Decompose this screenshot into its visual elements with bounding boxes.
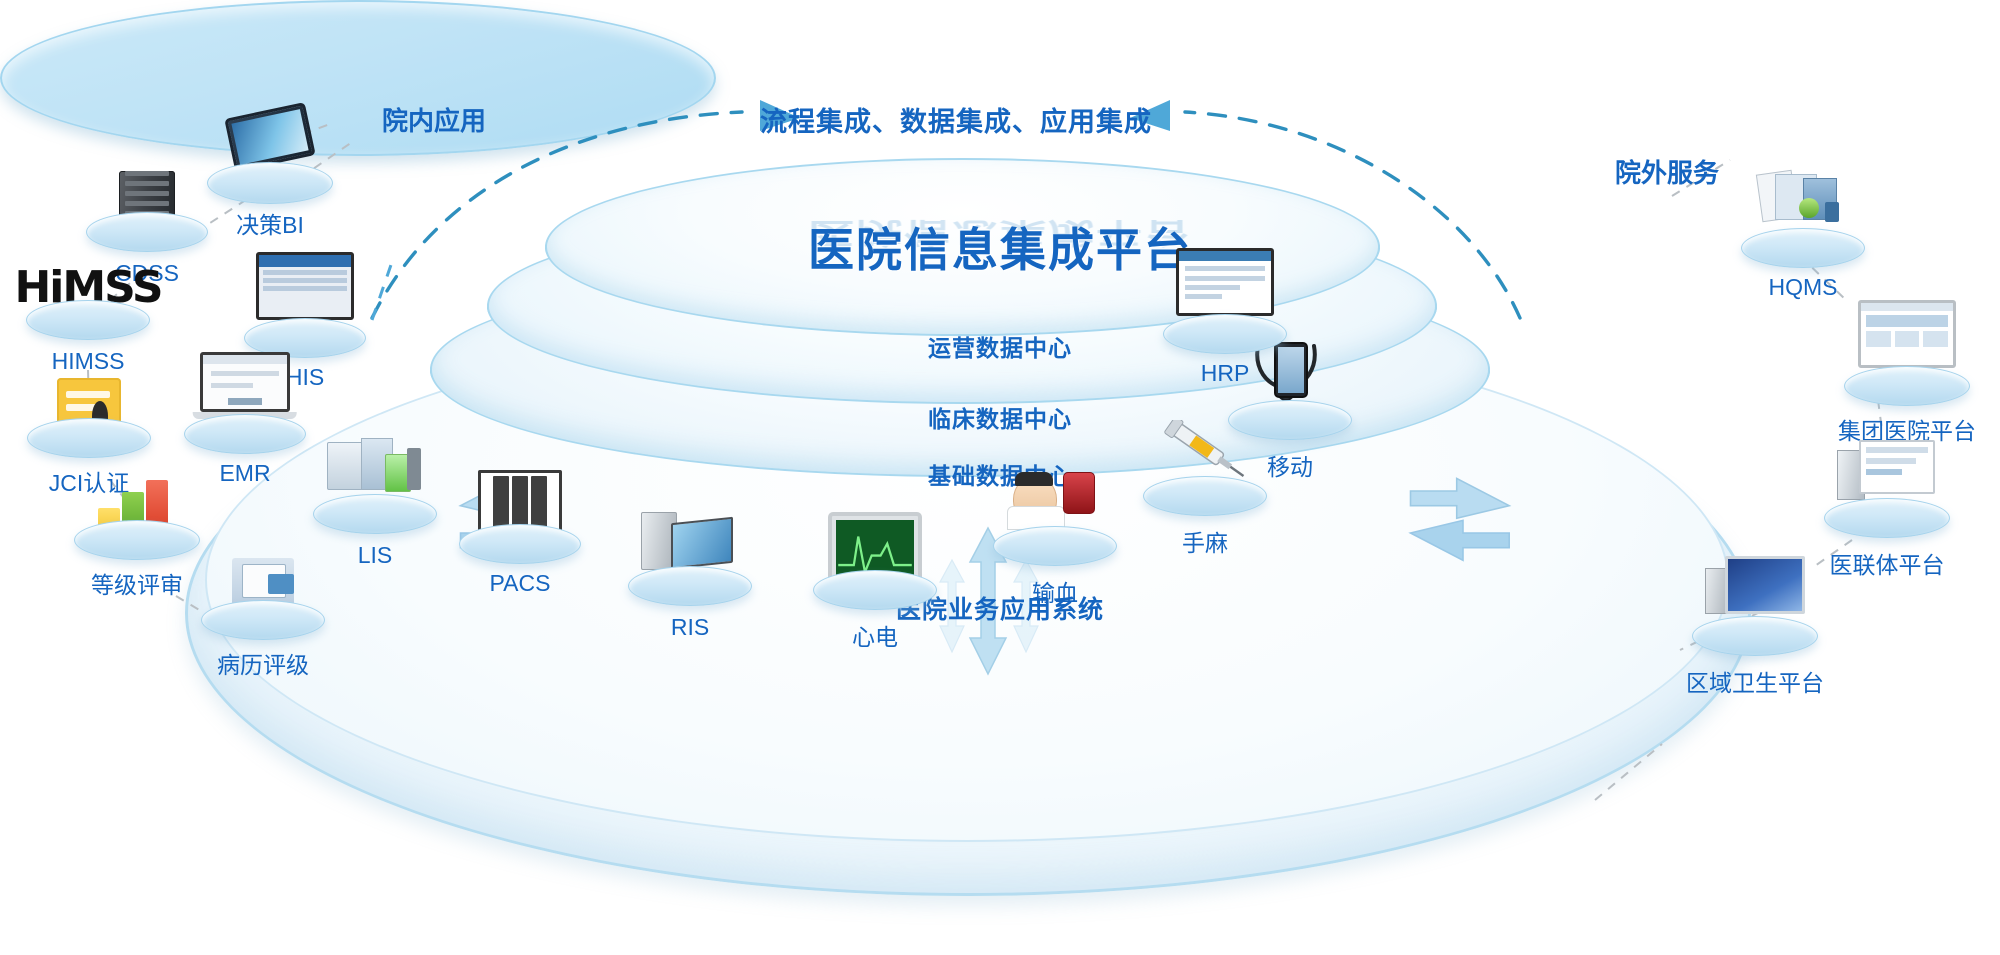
node-pacs[interactable]: PACS xyxy=(440,470,600,610)
internal-apps-header: 院内应用 xyxy=(382,101,486,138)
node-regional-health[interactable]: 区域卫生平台 xyxy=(1660,556,1850,706)
node-ecg[interactable]: 心电 xyxy=(795,512,955,654)
tablet-bi-icon xyxy=(229,110,311,164)
node-ris[interactable]: RIS xyxy=(610,512,770,654)
node-label: 病历评级 xyxy=(217,646,309,680)
node-label: 决策BI xyxy=(236,206,304,240)
node-label: RIS xyxy=(671,614,709,641)
node-record-rating[interactable]: 病历评级 xyxy=(168,558,358,694)
workstation-icon xyxy=(641,512,739,570)
node-label: 心电 xyxy=(852,618,898,652)
node-hqms[interactable]: HQMS xyxy=(1718,172,1888,312)
node-label: LIS xyxy=(358,542,393,569)
node-lis[interactable]: LIS xyxy=(295,438,455,578)
node-group-hospital[interactable]: 集团医院平台 xyxy=(1812,300,2000,450)
documents-icon xyxy=(1755,172,1851,232)
node-himss[interactable]: HiMSS HIMSS xyxy=(0,262,178,392)
blood-transfusion-icon xyxy=(1007,470,1103,528)
region-monitor-icon xyxy=(1705,556,1805,618)
external-services-header: 院外服务 xyxy=(1615,153,1719,190)
node-label: HIMSS xyxy=(52,348,125,375)
node-transfusion[interactable]: 输血 xyxy=(975,470,1135,612)
node-label: 移动 xyxy=(1267,448,1313,482)
laptop-icon xyxy=(200,352,290,419)
node-label: 区域卫生平台 xyxy=(1686,664,1824,698)
node-hrp[interactable]: HRP xyxy=(1145,248,1305,396)
node-label: 输血 xyxy=(1032,574,1078,608)
lab-analyzer-icon xyxy=(327,438,423,498)
node-label: HQMS xyxy=(1769,274,1838,301)
alliance-monitor-icon xyxy=(1837,440,1937,502)
node-label: HRP xyxy=(1201,360,1250,387)
diagram-canvas: 流程集成、数据集成、应用集成 院内应用 院外服务 医院信息集成平台 医院信息集成… xyxy=(0,0,2000,955)
node-label: 手麻 xyxy=(1182,524,1228,558)
integration-header: 流程集成、数据集成、应用集成 xyxy=(760,100,1152,139)
node-label: PACS xyxy=(490,570,551,597)
node-label: EMR xyxy=(219,460,270,487)
